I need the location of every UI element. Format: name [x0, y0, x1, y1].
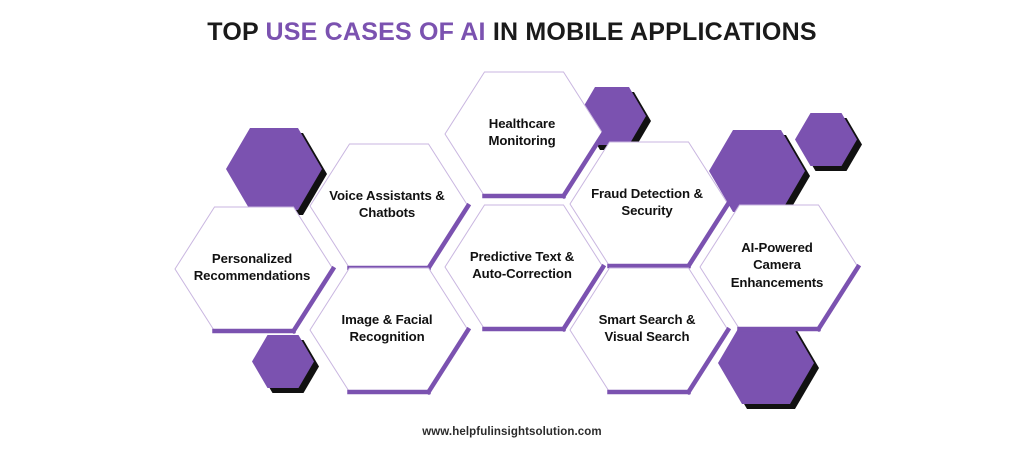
honeycomb-diagram: PersonalizedRecommendationsVoice Assista…: [0, 0, 1024, 456]
deco-top-right-small: [795, 113, 857, 166]
hexagon-smart-search-visual-search[interactable]: Smart Search &Visual Search: [568, 266, 726, 390]
infographic-root: TOP USE CASES OF AI IN MOBILE APPLICATIO…: [0, 0, 1024, 456]
hexagon-image-facial-recognition[interactable]: Image & FacialRecognition: [308, 266, 466, 390]
hexagon-body: [310, 268, 468, 392]
hexagon-body: [570, 268, 728, 392]
footer-url: www.helpfulinsightsolution.com: [0, 426, 1024, 438]
deco-bottom-left-small: [252, 335, 314, 388]
deco-bottom-right-large: [718, 322, 814, 404]
